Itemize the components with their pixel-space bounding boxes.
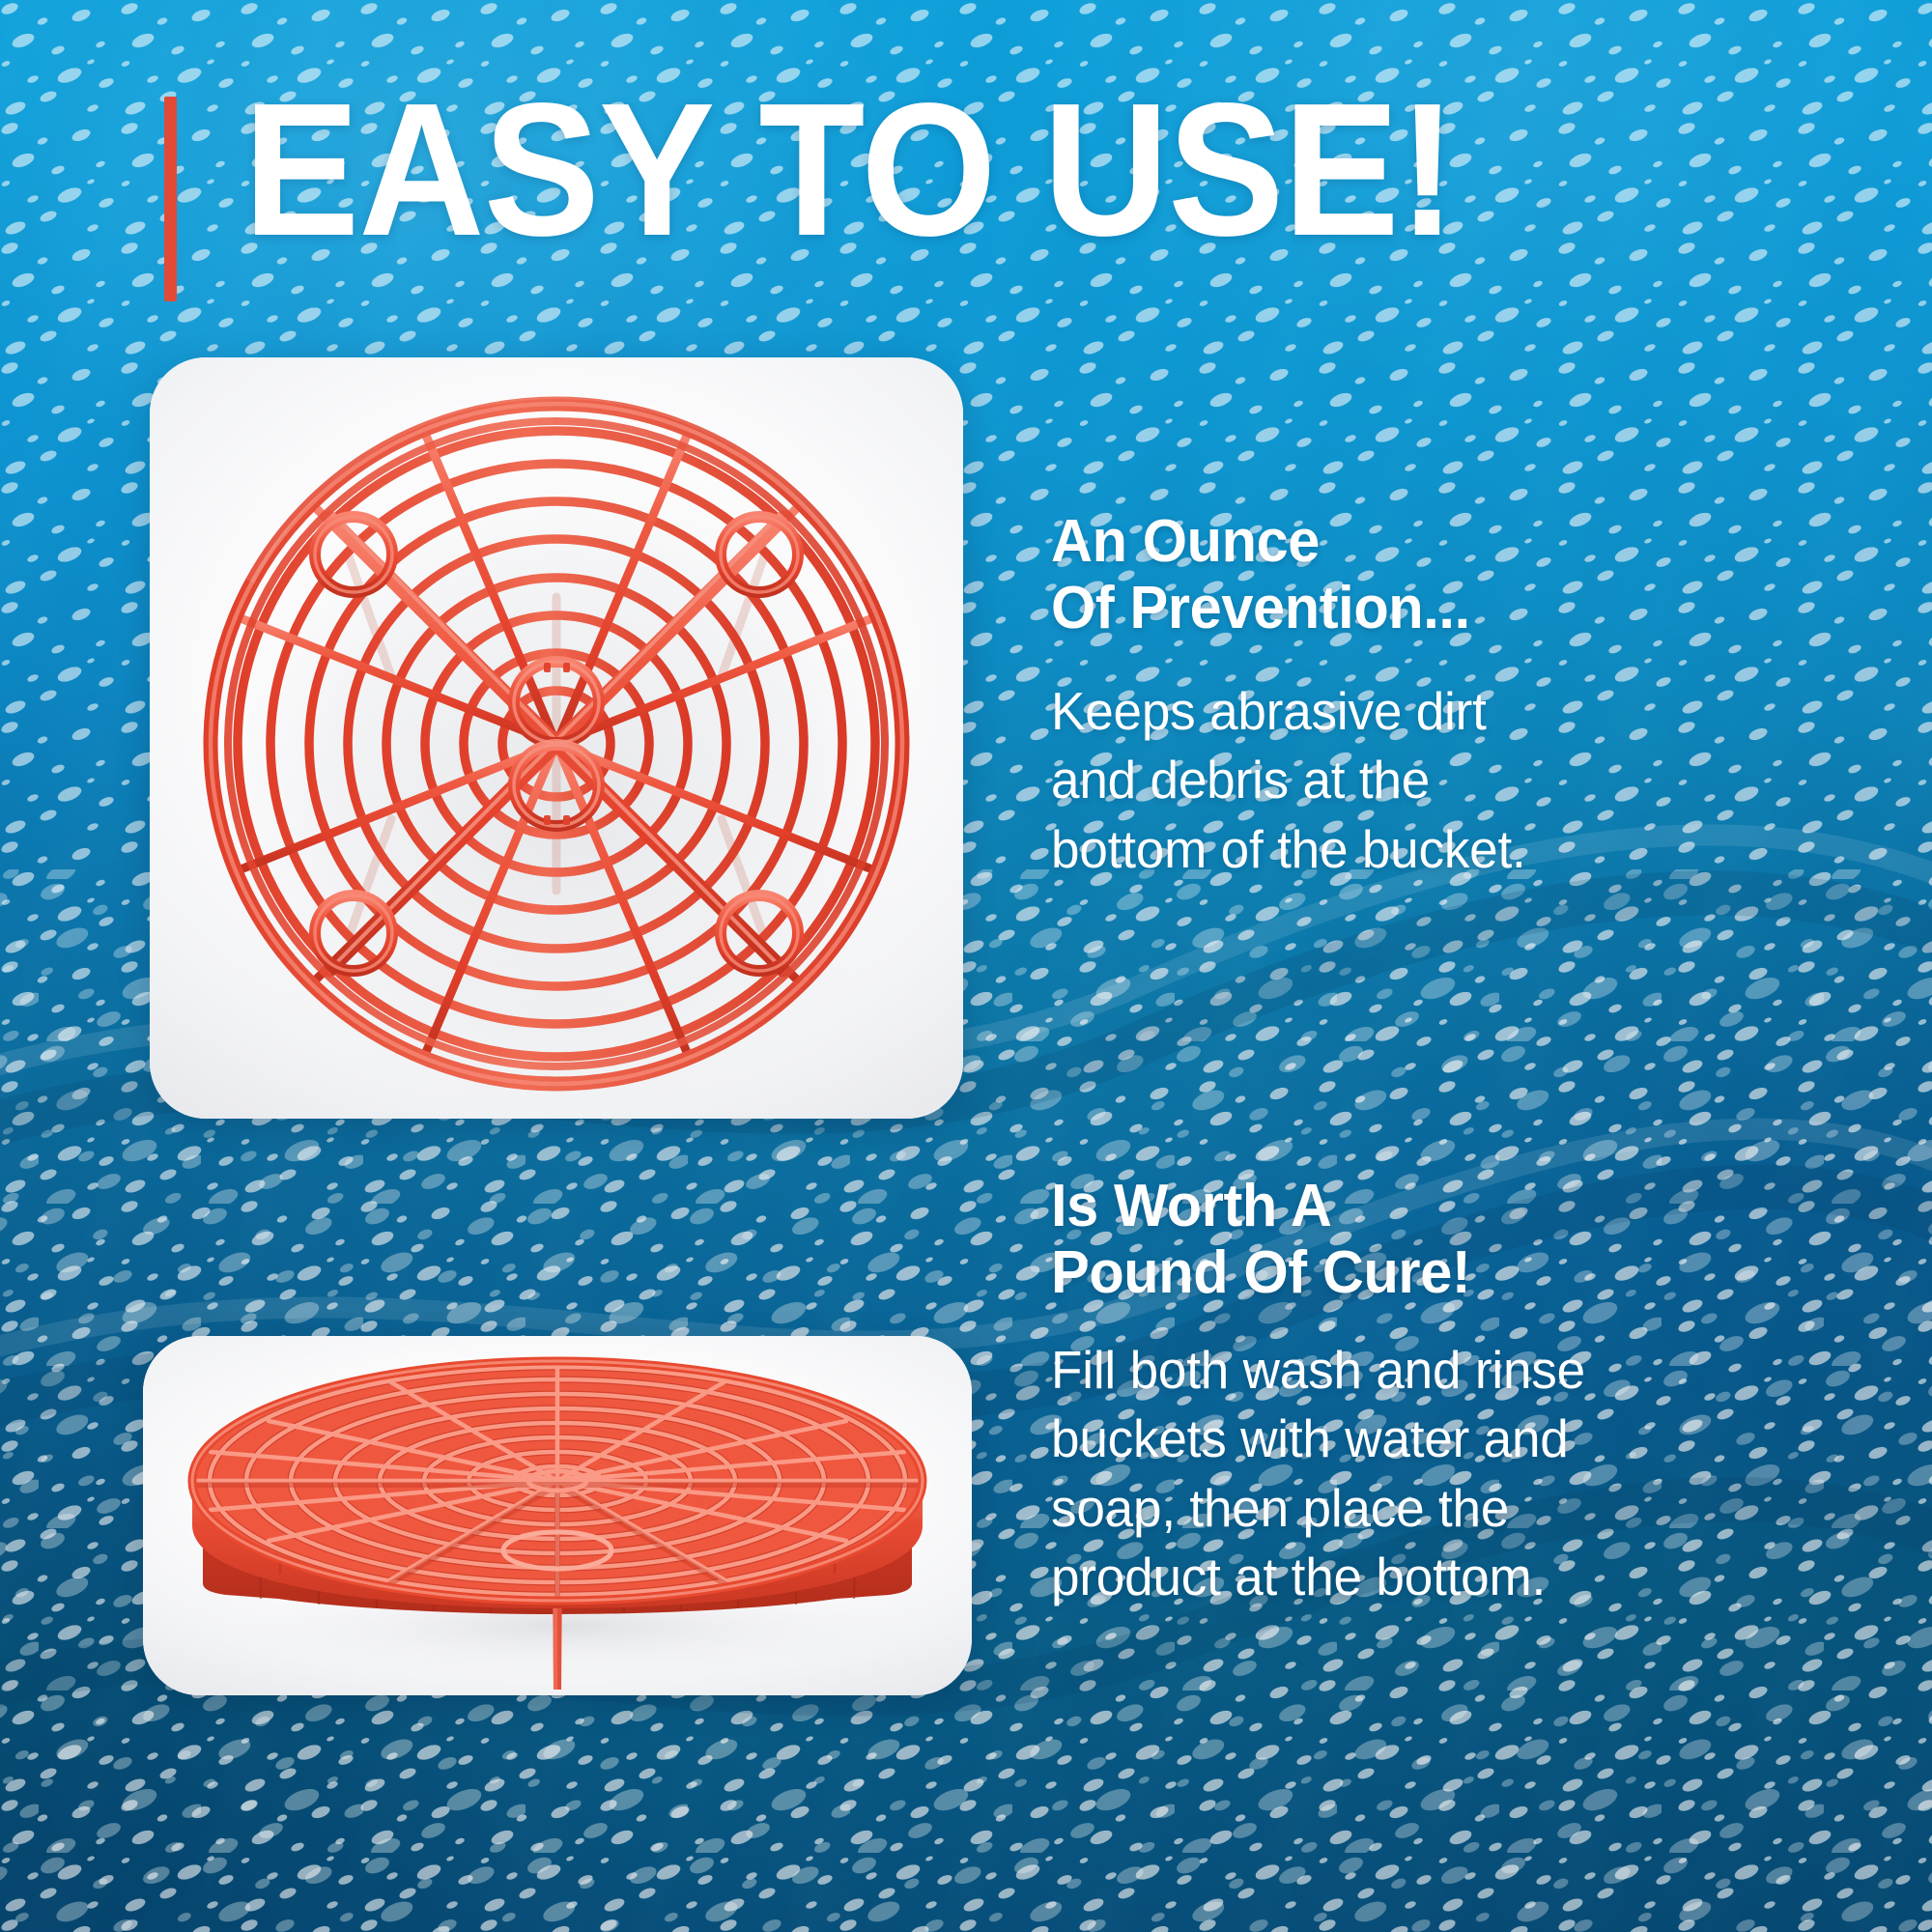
feature-body: Keeps abrasive dirt and debris at the bo… — [1051, 677, 1871, 885]
title-accent-bar — [164, 97, 177, 301]
feature-text-column: An Ounce Of Prevention... Keeps abrasive… — [1051, 0, 1901, 1932]
photo-card-side-view — [143, 1336, 972, 1695]
feature-block-cure: Is Worth A Pound Of Cure! Fill both wash… — [1051, 1174, 1901, 1612]
grit-guard-side-view-image — [143, 1336, 972, 1695]
photo-card-top-view — [150, 357, 963, 1119]
feature-body: Fill both wash and rinse buckets with wa… — [1051, 1336, 1871, 1612]
feature-heading: An Ounce Of Prevention... — [1051, 509, 1867, 642]
grit-guard-top-view-image — [150, 357, 963, 1119]
feature-block-prevention: An Ounce Of Prevention... Keeps abrasive… — [1051, 509, 1901, 884]
feature-heading: Is Worth A Pound Of Cure! — [1051, 1174, 1867, 1307]
